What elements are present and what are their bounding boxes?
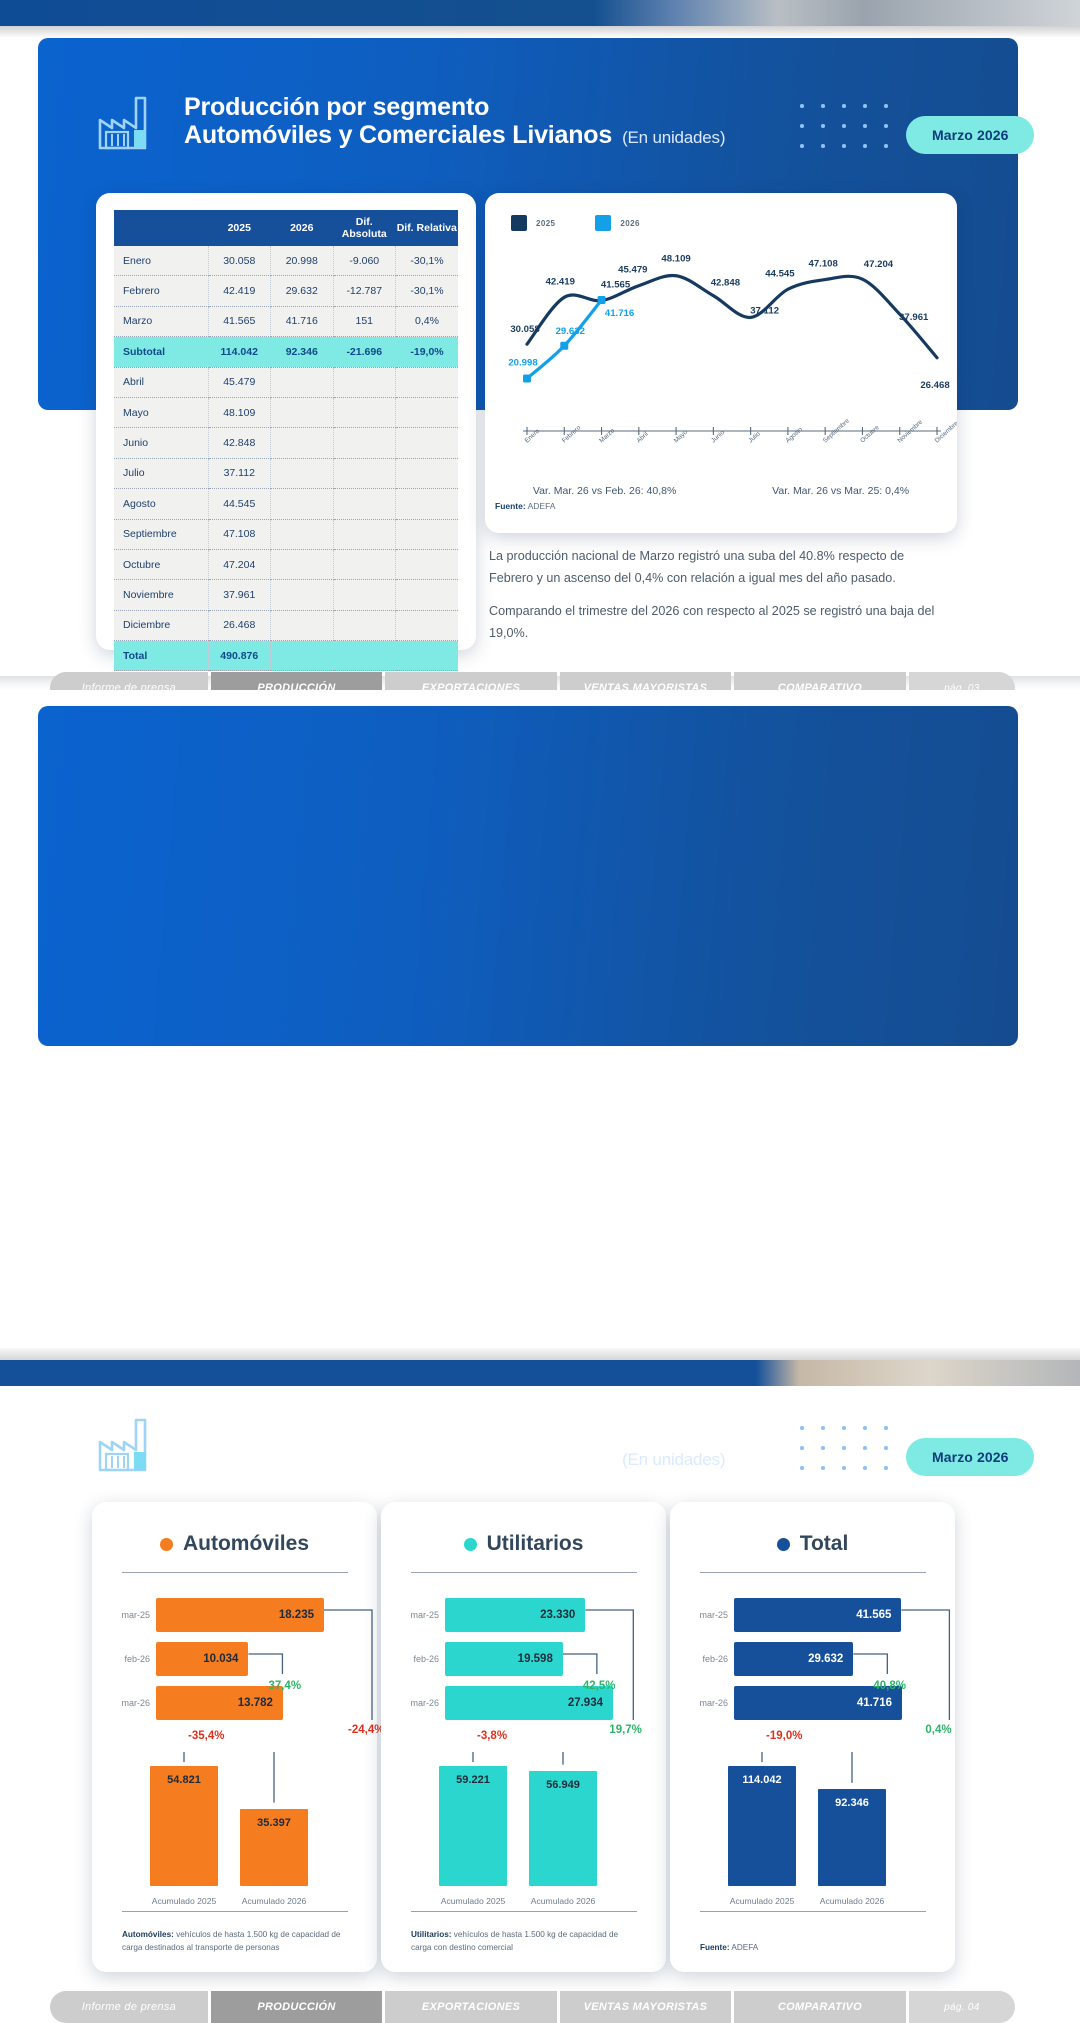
panel-title-text: Utilitarios xyxy=(487,1532,584,1556)
panel-color-dot xyxy=(777,1538,790,1551)
chart-point-label-2025: 48.109 xyxy=(661,254,690,265)
table-row: Junio42.848 xyxy=(114,428,458,458)
table-row: Julio37.112 xyxy=(114,458,458,488)
panel-title: Utilitarios xyxy=(381,1532,666,1556)
production-table-card: 20252026Dif. AbsolutaDif. Relativa Enero… xyxy=(96,193,476,650)
panel-divider xyxy=(700,1572,926,1573)
table-cell xyxy=(333,610,396,640)
vbar-pct: -19,0% xyxy=(766,1730,802,1742)
chart-point-label-2025: 47.204 xyxy=(864,259,894,270)
chart-point-label-2025: 47.108 xyxy=(809,259,839,270)
scan-edge-bottom xyxy=(0,1360,1080,1386)
table-cell: 42.419 xyxy=(208,276,271,306)
table-cell xyxy=(271,580,334,610)
chart-x-tick-label: Abril xyxy=(635,431,649,445)
table-cell xyxy=(396,641,459,671)
table-cell xyxy=(271,489,334,519)
commentary-paragraph-1: La producción nacional de Marzo registró… xyxy=(489,546,945,590)
table-cell: Enero xyxy=(114,246,208,276)
scan-edge-top-shadow xyxy=(0,26,1080,38)
table-row: Abril45.479 xyxy=(114,367,458,397)
panel-title-text: Total xyxy=(800,1532,849,1556)
table-cell: -12.787 xyxy=(333,276,396,306)
chart-point-label-2025: 41.565 xyxy=(601,280,631,291)
table-cell: 29.632 xyxy=(271,276,334,306)
table-cell xyxy=(271,519,334,549)
slide-production-segments: Producción por segmento Automóviles y Co… xyxy=(0,690,1080,1348)
table-row: Total490.876 xyxy=(114,641,458,671)
table-row: Enero30.05820.998-9.060-30,1% xyxy=(114,246,458,276)
chart-source-label: Fuente: xyxy=(495,501,526,511)
slide1-period-badge: Marzo 2026 xyxy=(906,116,1034,154)
chart-source-value: ADEFA xyxy=(528,501,556,511)
panel-hbar-chart: mar-2541.565feb-2629.632mar-2641.71640,8… xyxy=(670,1598,955,1738)
panel-vbar-chart: 114.042Acumulado 202592.346Acumulado 202… xyxy=(670,1752,955,1912)
panel-note-label: Automóviles: xyxy=(122,1930,174,1939)
chart-point-label-2025: 42.848 xyxy=(711,278,741,289)
table-cell: 41.565 xyxy=(208,306,271,336)
chart-point-label-2026: 29.632 xyxy=(556,326,585,337)
table-cell: Subtotal xyxy=(114,337,208,367)
table-cell xyxy=(396,519,459,549)
scan-edge-bottom-shadow xyxy=(0,1346,1080,1360)
table-col-header-0 xyxy=(114,210,208,246)
table-cell: -9.060 xyxy=(333,246,396,276)
chart-variation-notes: Var. Mar. 26 vs Feb. 26: 40,8% Var. Mar.… xyxy=(485,485,957,497)
monthly-line-chart-card: 2025 2026 EneroFebreroMarzoAbrilMayoJuni… xyxy=(485,193,957,533)
panel-title: Total xyxy=(670,1532,955,1556)
table-cell: -19,0% xyxy=(396,337,459,367)
segment-panel-total: Totalmar-2541.565feb-2629.632mar-2641.71… xyxy=(670,1502,955,1972)
chart-x-tick-label: Marzo xyxy=(598,427,616,444)
table-cell: 20.998 xyxy=(271,246,334,276)
nav-page-number: pág. 04 xyxy=(909,1991,1015,2023)
table-cell xyxy=(396,610,459,640)
table-cell xyxy=(333,489,396,519)
panel-color-dot xyxy=(160,1538,173,1551)
table-row: Mayo48.109 xyxy=(114,397,458,427)
panel-color-dot xyxy=(464,1538,477,1551)
table-cell: -30,1% xyxy=(396,276,459,306)
panel-note-divider xyxy=(411,1911,637,1912)
chart-point-label-2025: 42.419 xyxy=(546,276,575,287)
hbar-pct-outer: 19,7% xyxy=(609,1724,642,1736)
segment-panel-utilitarios: Utilitariosmar-2523.330feb-2619.598mar-2… xyxy=(381,1502,666,1972)
table-cell: 92.346 xyxy=(271,337,334,367)
slide2-title-line1: Producción por segmento xyxy=(184,1415,725,1444)
nav-item-ventas-mayoristas[interactable]: VENTAS MAYORISTAS xyxy=(560,1991,731,2023)
production-table: 20252026Dif. AbsolutaDif. Relativa Enero… xyxy=(114,210,458,671)
panel-title: Automóviles xyxy=(92,1532,377,1556)
table-cell: Total xyxy=(114,641,208,671)
panel-note-text: ADEFA xyxy=(730,1943,759,1952)
slide2-period-badge: Marzo 2026 xyxy=(906,1438,1034,1476)
table-cell xyxy=(333,580,396,610)
nav-item-exportaciones[interactable]: EXPORTACIONES xyxy=(385,1991,556,2023)
hbar-pct-inner: 40,8% xyxy=(873,1680,906,1692)
vbar-connector xyxy=(381,1752,666,1912)
table-cell xyxy=(333,519,396,549)
table-cell: 26.468 xyxy=(208,610,271,640)
table-cell: 30.058 xyxy=(208,246,271,276)
slide2-bottom-nav[interactable]: Informe de prensaPRODUCCIÓNEXPORTACIONES… xyxy=(50,1991,1015,2023)
table-cell xyxy=(396,549,459,579)
table-cell: 42.848 xyxy=(208,428,271,458)
slide1-header: Producción por segmento Automóviles y Co… xyxy=(96,90,725,152)
table-col-header-1: 2025 xyxy=(208,210,271,246)
table-cell: 151 xyxy=(333,306,396,336)
panel-hbar-chart: mar-2518.235feb-2610.034mar-2613.78237,4… xyxy=(92,1598,377,1738)
vbar-connector xyxy=(92,1752,377,1912)
nav-item-producción[interactable]: PRODUCCIÓN xyxy=(211,1991,382,2023)
hbar-connectors xyxy=(381,1598,666,1738)
vbar-pct: -3,8% xyxy=(477,1730,507,1742)
table-col-header-4: Dif. Relativa xyxy=(396,210,459,246)
table-cell: Julio xyxy=(114,458,208,488)
table-row: Febrero42.41929.632-12.787-30,1% xyxy=(114,276,458,306)
table-cell: Octubre xyxy=(114,549,208,579)
slide2-blue-panel xyxy=(38,706,1018,1046)
commentary-paragraph-2: Comparando el trimestre del 2026 con res… xyxy=(489,601,945,645)
legend-swatch-2026 xyxy=(595,215,611,231)
panel-note-divider xyxy=(122,1911,348,1912)
chart-point-label-2025: 44.545 xyxy=(765,268,795,279)
table-cell xyxy=(333,428,396,458)
nav-item-informe-de-prensa[interactable]: Informe de prensa xyxy=(50,1991,208,2023)
chart-point-label-2025: 26.468 xyxy=(920,380,950,391)
slide1-title-line1: Producción por segmento xyxy=(184,93,725,122)
table-cell xyxy=(396,397,459,427)
chart-point-label-2026: 20.998 xyxy=(508,357,538,368)
table-header-row: 20252026Dif. AbsolutaDif. Relativa xyxy=(114,210,458,246)
table-cell: 47.204 xyxy=(208,549,271,579)
table-cell: Noviembre xyxy=(114,580,208,610)
chart-point-label-2025: 45.479 xyxy=(618,265,647,276)
table-cell: Diciembre xyxy=(114,610,208,640)
legend-label-2026: 2026 xyxy=(620,219,639,228)
panel-divider xyxy=(122,1572,348,1573)
table-cell: 47.108 xyxy=(208,519,271,549)
vbar-pct: -35,4% xyxy=(188,1730,224,1742)
variation-vs-feb: Var. Mar. 26 vs Feb. 26: 40,8% xyxy=(533,485,676,497)
slide1-commentary: La producción nacional de Marzo registró… xyxy=(489,546,945,656)
hbar-pct-outer: -24,4% xyxy=(348,1724,384,1736)
table-cell: 48.109 xyxy=(208,397,271,427)
hbar-pct-inner: 42,5% xyxy=(583,1680,616,1692)
table-cell: 114.042 xyxy=(208,337,271,367)
table-cell xyxy=(333,397,396,427)
table-cell xyxy=(271,428,334,458)
segment-panel-automoviles: Automóvilesmar-2518.235feb-2610.034mar-2… xyxy=(92,1502,377,1972)
table-cell xyxy=(396,580,459,610)
table-cell: Junio xyxy=(114,428,208,458)
table-cell: 44.545 xyxy=(208,489,271,519)
panel-note-label: Utilitarios: xyxy=(411,1930,452,1939)
panel-title-text: Automóviles xyxy=(183,1532,309,1556)
chart-point-label-2026: 41.716 xyxy=(605,308,634,319)
slide1-title-line2: Automóviles y Comerciales Livianos xyxy=(184,121,612,150)
panel-note: Fuente: ADEFA xyxy=(700,1942,926,1954)
panel-note-label: Fuente: xyxy=(700,1943,730,1952)
hbar-connectors xyxy=(670,1598,955,1738)
table-cell xyxy=(271,367,334,397)
table-row: Noviembre37.961 xyxy=(114,580,458,610)
hbar-pct-outer: 0,4% xyxy=(925,1724,951,1736)
table-cell: 37.112 xyxy=(208,458,271,488)
factory-icon xyxy=(96,1412,168,1474)
table-cell: -30,1% xyxy=(396,246,459,276)
hbar-connectors xyxy=(92,1598,377,1738)
table-row: Septiembre47.108 xyxy=(114,519,458,549)
slide1-units: (En unidades) xyxy=(622,128,725,147)
table-cell xyxy=(271,641,334,671)
table-cell xyxy=(271,549,334,579)
table-cell: 490.876 xyxy=(208,641,271,671)
nav-item-comparativo[interactable]: COMPARATIVO xyxy=(734,1991,905,2023)
slide2-header: Producción por segmento Automóviles y Co… xyxy=(96,1412,725,1474)
panel-hbar-chart: mar-2523.330feb-2619.598mar-2627.93442,5… xyxy=(381,1598,666,1738)
chart-x-tick-label: Enero xyxy=(524,428,542,445)
panel-divider xyxy=(411,1572,637,1573)
legend-swatch-2025 xyxy=(511,215,527,231)
table-cell xyxy=(271,610,334,640)
table-cell: Febrero xyxy=(114,276,208,306)
monthly-line-chart: EneroFebreroMarzoAbrilMayoJunioJulioAgos… xyxy=(485,193,957,483)
table-cell xyxy=(271,397,334,427)
table-row: Diciembre26.468 xyxy=(114,610,458,640)
table-cell: 41.716 xyxy=(271,306,334,336)
chart-point-label-2025: 37.961 xyxy=(899,312,929,323)
panel-note: Utilitarios: vehículos de hasta 1.500 kg… xyxy=(411,1929,637,1954)
panel-vbar-chart: 54.821Acumulado 202535.397Acumulado 2026… xyxy=(92,1752,377,1912)
table-cell xyxy=(396,428,459,458)
table-cell: Septiembre xyxy=(114,519,208,549)
table-cell: 37.961 xyxy=(208,580,271,610)
hbar-pct-inner: 37,4% xyxy=(268,1680,301,1692)
chart-x-tick-label: Julio xyxy=(747,430,762,444)
table-cell: 45.479 xyxy=(208,367,271,397)
slide-production-table: Producción por segmento Automóviles y Co… xyxy=(0,38,1080,676)
factory-icon xyxy=(96,90,168,152)
legend-label-2025: 2025 xyxy=(536,219,555,228)
table-cell: Abril xyxy=(114,367,208,397)
table-cell: Mayo xyxy=(114,397,208,427)
table-cell xyxy=(396,458,459,488)
slide2-dot-pattern xyxy=(800,1426,905,1486)
scan-edge-top xyxy=(0,0,1080,26)
chart-point-label-2025: 37.112 xyxy=(750,305,779,316)
chart-point-label-2025: 30.058 xyxy=(510,324,540,335)
slide1-dot-pattern xyxy=(800,104,905,164)
legend-item-2025: 2025 xyxy=(511,215,555,231)
table-cell xyxy=(396,489,459,519)
slide2-units: (En unidades) xyxy=(622,1450,725,1469)
chart-legend: 2025 2026 xyxy=(511,215,640,231)
chart-source: Fuente: ADEFA xyxy=(495,501,555,511)
table-cell xyxy=(333,641,396,671)
panel-note: Automóviles: vehículos de hasta 1.500 kg… xyxy=(122,1929,348,1954)
table-cell xyxy=(333,458,396,488)
panel-note-divider xyxy=(700,1911,926,1912)
panel-vbar-chart: 59.221Acumulado 202556.949Acumulado 2026… xyxy=(381,1752,666,1912)
table-row: Octubre47.204 xyxy=(114,549,458,579)
variation-vs-mar: Var. Mar. 26 vs Mar. 25: 0,4% xyxy=(772,485,909,497)
table-cell: Marzo xyxy=(114,306,208,336)
table-row: Agosto44.545 xyxy=(114,489,458,519)
legend-item-2026: 2026 xyxy=(595,215,639,231)
vbar-connector xyxy=(670,1752,955,1912)
table-cell: 0,4% xyxy=(396,306,459,336)
table-cell xyxy=(333,367,396,397)
table-cell: -21.696 xyxy=(333,337,396,367)
table-row: Marzo41.56541.7161510,4% xyxy=(114,306,458,336)
table-cell xyxy=(271,458,334,488)
table-cell xyxy=(333,549,396,579)
table-col-header-3: Dif. Absoluta xyxy=(333,210,396,246)
table-cell xyxy=(396,367,459,397)
table-row: Subtotal114.04292.346-21.696-19,0% xyxy=(114,337,458,367)
table-col-header-2: 2026 xyxy=(271,210,334,246)
table-cell: Agosto xyxy=(114,489,208,519)
slide2-title-line2: Automóviles y Comerciales Livianos xyxy=(184,1443,612,1472)
